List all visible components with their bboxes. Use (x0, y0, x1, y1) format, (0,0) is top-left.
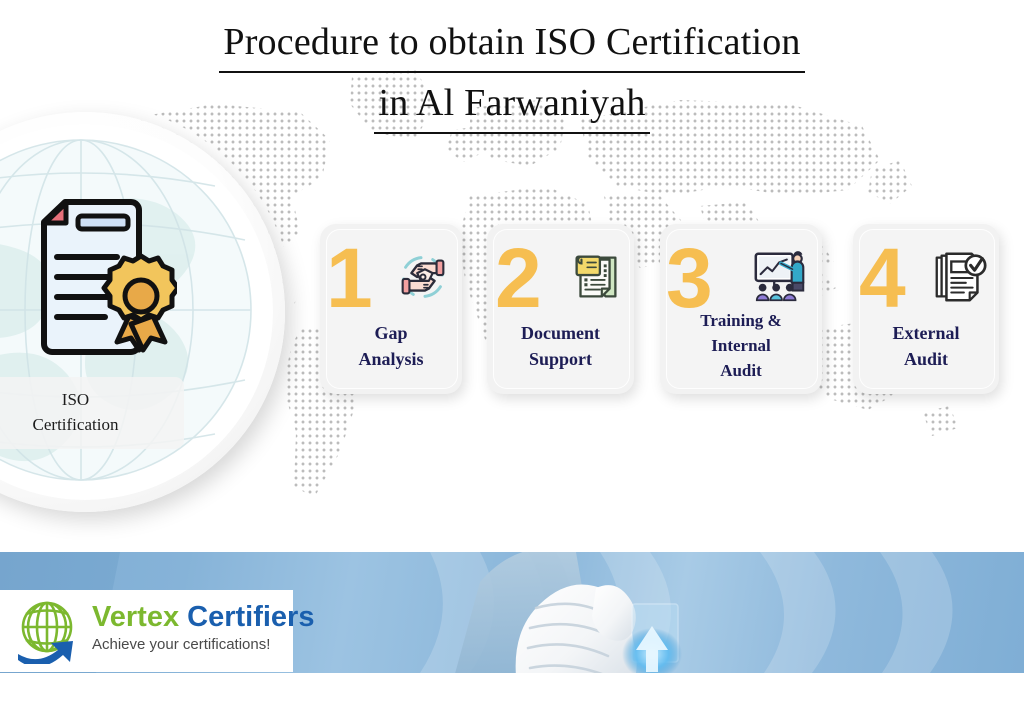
hand-touching-glowing-arrow-photo (300, 552, 860, 673)
training-presentation-icon (750, 246, 812, 308)
step-card-4[interactable]: 4 External Audit (853, 224, 999, 394)
step-label-4-line-1: External (893, 323, 960, 343)
page-title: Procedure to obtain ISO Certification in… (0, 14, 1024, 134)
handshake-partnership-icon (392, 246, 454, 308)
step-card-1[interactable]: 1 Gap Analysis (320, 224, 462, 394)
title-line-2: in Al Farwaniyah (374, 75, 649, 134)
step-label-1-line-2: Analysis (358, 349, 423, 369)
iso-label-line-2: Certification (0, 412, 178, 437)
step-label-3: Training & Internal Audit (660, 308, 822, 383)
brand-logo-text: Vertex Certifiers Achieve your certifica… (92, 600, 292, 655)
documents-check-approved-icon (929, 246, 991, 308)
step-label-4: External Audit (853, 320, 999, 372)
brand-name-part2: Certifiers (187, 601, 314, 633)
iso-certification-badge: ISO Certification (0, 112, 285, 512)
step-label-3-line-3: Audit (720, 361, 762, 380)
title-line-1: Procedure to obtain ISO Certification (219, 14, 804, 73)
step-label-1-line-1: Gap (374, 323, 407, 343)
step-label-3-line-2: Internal (711, 336, 771, 355)
green-globe-arrow-logo-icon (14, 598, 88, 664)
step-number-1: 1 (326, 236, 373, 320)
iso-label-line-1: ISO (0, 387, 178, 412)
poster-root: Procedure to obtain ISO Certification in… (0, 0, 1024, 724)
step-label-1: Gap Analysis (320, 320, 462, 372)
documents-checklist-icon (565, 246, 627, 308)
step-number-2: 2 (495, 236, 542, 320)
brand-tagline: Achieve your certifications! (92, 635, 292, 655)
step-card-2[interactable]: 2 (487, 224, 634, 394)
brand-name-part1: Vertex (92, 601, 179, 633)
brand-logo[interactable]: Vertex Certifiers Achieve your certifica… (0, 590, 293, 672)
certificate-document-icon (35, 198, 177, 360)
step-number-4: 4 (859, 236, 906, 320)
step-label-4-line-2: Audit (904, 349, 948, 369)
step-card-3[interactable]: 3 Training & I (660, 224, 822, 394)
brand-name: Vertex Certifiers (92, 600, 292, 634)
step-label-2: Document Support (487, 320, 634, 372)
step-label-2-line-2: Support (529, 349, 592, 369)
iso-certification-label: ISO Certification (0, 377, 184, 449)
step-label-3-line-1: Training & (700, 311, 781, 330)
step-label-2-line-1: Document (521, 323, 600, 343)
